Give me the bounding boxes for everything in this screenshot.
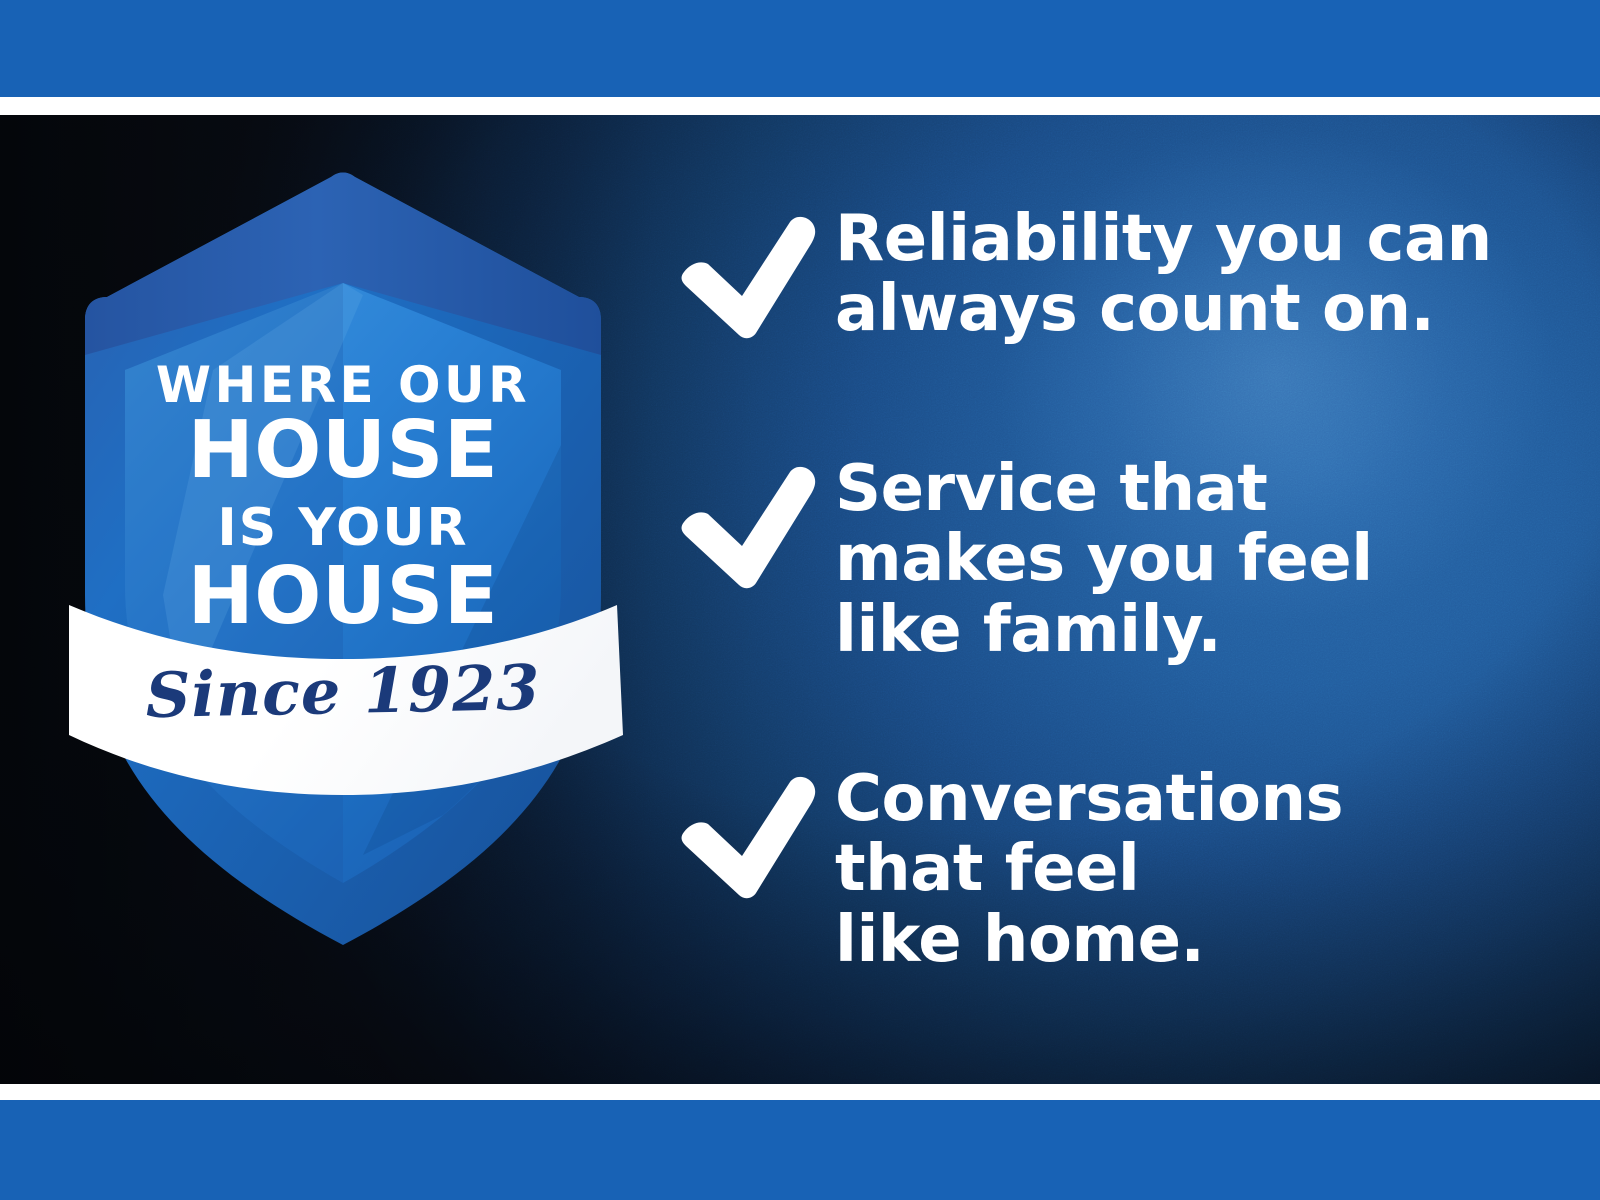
benefit-text-line: like family. <box>835 595 1575 665</box>
logo-line-3: Is Your <box>85 502 601 554</box>
checkmark-icon <box>670 210 820 340</box>
benefit-text-line: makes you feel <box>835 524 1575 594</box>
logo-line-4: House <box>85 557 601 636</box>
company-shield-logo: Where Our House Is Your House Since 1923 <box>63 155 623 955</box>
logo-since-banner-text: Since 1923 <box>62 649 623 734</box>
benefits-list: Reliability you can always count on. Ser… <box>670 115 1570 1084</box>
benefit-text-line: Service that <box>835 454 1575 524</box>
benefit-text-line: Conversations <box>835 764 1575 834</box>
checkmark-icon <box>670 460 820 590</box>
checkmark-icon <box>670 770 820 900</box>
promo-graphic: Where Our House Is Your House Since 1923… <box>0 0 1600 1200</box>
logo-line-1: Where Our <box>85 360 601 410</box>
brand-divider-bottom <box>0 1084 1600 1100</box>
benefit-text-line: always count on. <box>835 274 1575 344</box>
brand-divider-top <box>0 97 1600 115</box>
benefit-text: Conversations that feel like home. <box>835 764 1575 975</box>
benefit-text-line: that feel <box>835 834 1575 904</box>
logo-line-2: House <box>85 411 601 490</box>
benefit-text: Service that makes you feel like family. <box>835 454 1575 665</box>
benefit-text: Reliability you can always count on. <box>835 204 1575 345</box>
brand-bar-bottom <box>0 1100 1600 1200</box>
benefit-text-line: like home. <box>835 905 1575 975</box>
brand-bar-top <box>0 0 1600 97</box>
benefit-text-line: Reliability you can <box>835 204 1575 274</box>
